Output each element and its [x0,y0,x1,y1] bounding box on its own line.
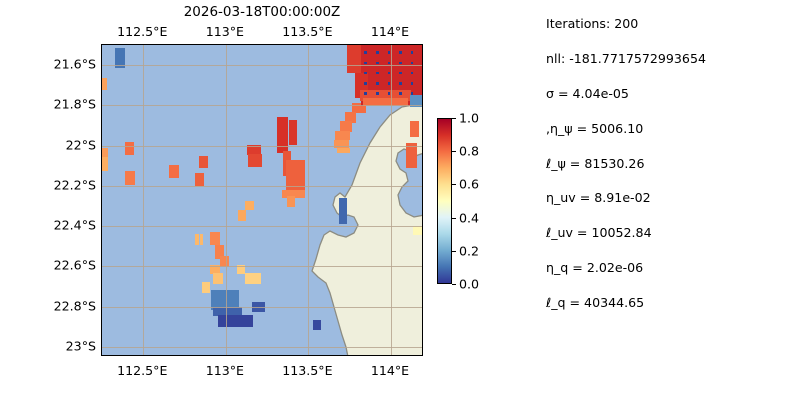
gridline-vertical [391,45,392,355]
x-tick-bot [226,355,227,356]
stipple-dot [411,62,414,65]
gridline-horizontal [102,146,422,147]
data-cell [245,273,261,284]
stipple-dot [388,51,391,54]
stipple-dot [399,51,402,54]
stipple-dot [399,92,402,95]
y-tick [101,307,102,308]
data-cell [102,148,108,157]
data-cell [210,232,220,244]
stipple-dot [388,82,391,85]
x-tick-bot [391,355,392,356]
stipple-dot [388,92,391,95]
data-cell [200,234,203,245]
stipple-dot [388,62,391,65]
stipple-dot [364,92,367,95]
info-line-2: σ = 4.04e-05 [546,88,796,101]
data-cell [335,131,349,140]
data-cell [406,143,416,168]
x-tick-label-top: 113°E [206,24,244,39]
data-cell [199,156,209,168]
colorbar-tick [452,118,456,119]
data-cell [313,320,321,330]
colorbar-tick-label: 0.0 [459,277,479,292]
info-line-6: ℓ_uv = 10052.84 [546,227,796,240]
colorbar[interactable] [437,118,452,284]
y-tick-label: 22°S [28,137,96,152]
gridline-horizontal [102,65,422,66]
stipple-dot [399,72,402,75]
y-tick [101,226,102,227]
colorbar-gradient [438,119,451,283]
data-cell [339,198,347,225]
data-cell [169,165,179,177]
data-cell [334,140,348,148]
data-cell [102,78,107,90]
info-line-0: Iterations: 200 [546,18,796,31]
y-tick-label: 22.4°S [28,218,96,233]
data-cell [125,142,135,155]
gridline-horizontal [102,347,422,348]
gridline-horizontal [102,105,422,106]
gridline-horizontal [102,307,422,308]
y-tick-label: 21.8°S [28,97,96,112]
x-tick-label-bottom: 113.5°E [282,363,332,378]
stipple-dot [364,51,367,54]
data-cell [218,315,253,327]
data-cell [413,226,422,235]
stipple-dot [364,62,367,65]
y-tick-label: 21.6°S [28,57,96,72]
info-line-3: ,η_ψ = 5006.10 [546,123,796,136]
data-cell [195,234,198,245]
y-tick [101,146,102,147]
y-tick [101,266,102,267]
stipple-dot [364,72,367,75]
x-tick-label-top: 113.5°E [282,24,332,39]
colorbar-tick [452,151,456,152]
data-cell [102,157,108,171]
data-cell [287,196,295,207]
x-tick-top [308,44,309,45]
y-tick [101,186,102,187]
stipple-dot [411,92,414,95]
data-cell [289,120,297,145]
colorbar-tick-label: 1.0 [459,111,479,126]
data-cell [277,117,287,153]
y-tick [101,65,102,66]
stipple-dot [399,82,402,85]
y-tick-label: 22.6°S [28,258,96,273]
info-panel: Iterations: 200nll: -181.7717572993654σ … [546,18,796,332]
stipple-dot [399,62,402,65]
data-cell [347,45,361,73]
y-tick [101,347,102,348]
stipple-dot [364,82,367,85]
data-cell [410,121,420,137]
data-cell [248,154,262,166]
info-line-1: nll: -181.7717572993654 [546,53,796,66]
x-tick-top [226,44,227,45]
stipple-dot [411,82,414,85]
stipple-dot [376,92,379,95]
y-tick-label: 23°S [28,338,96,353]
x-tick-bot [143,355,144,356]
gridline-horizontal [102,266,422,267]
x-tick-label-bottom: 113°E [206,363,244,378]
colorbar-tick-label: 0.4 [459,210,479,225]
data-cell [337,148,350,153]
figure-title: 2026-03-18T00:00:00Z [101,4,423,20]
colorbar-tick-label: 0.8 [459,144,479,159]
x-tick-bot [308,355,309,356]
gridline-vertical [143,45,144,355]
x-tick-top [391,44,392,45]
x-tick-top [143,44,144,45]
info-line-8: ℓ_q = 40344.65 [546,297,796,310]
data-cell [245,201,253,210]
gridline-horizontal [102,226,422,227]
x-tick-label-bottom: 112.5°E [117,363,167,378]
y-tick-label: 22.8°S [28,298,96,313]
x-tick-label-top: 114°E [371,24,409,39]
x-tick-label-bottom: 114°E [371,363,409,378]
map-axes[interactable] [101,44,423,356]
data-cell [220,256,230,267]
data-cell [125,171,135,185]
map-canvas [102,45,422,355]
colorbar-tick-label: 0.2 [459,243,479,258]
y-tick [101,105,102,106]
data-cell [202,282,210,293]
colorbar-tick [452,284,456,285]
stipple-dot [411,51,414,54]
figure-root: 2026-03-18T00:00:00Z 112.5°E113°E113.5°E… [0,0,800,400]
gridline-vertical [308,45,309,355]
data-cell [213,273,223,284]
info-line-7: η_q = 2.02e-06 [546,262,796,275]
info-line-4: ℓ_ψ = 81530.26 [546,158,796,171]
gridline-vertical [226,45,227,355]
stipple-dot [411,72,414,75]
y-tick-label: 22.2°S [28,177,96,192]
stipple-dot [376,72,379,75]
colorbar-tick [452,218,456,219]
stipple-dot [376,62,379,65]
gridline-horizontal [102,186,422,187]
stipple-dot [388,72,391,75]
colorbar-tick [452,184,456,185]
x-tick-label-top: 112.5°E [117,24,167,39]
stipple-dot [376,82,379,85]
colorbar-tick [452,251,456,252]
colorbar-tick-label: 0.6 [459,177,479,192]
info-line-5: η_uv = 8.91e-02 [546,192,796,205]
stipple-dot [376,51,379,54]
data-cell [238,210,246,221]
data-cell [195,173,205,186]
